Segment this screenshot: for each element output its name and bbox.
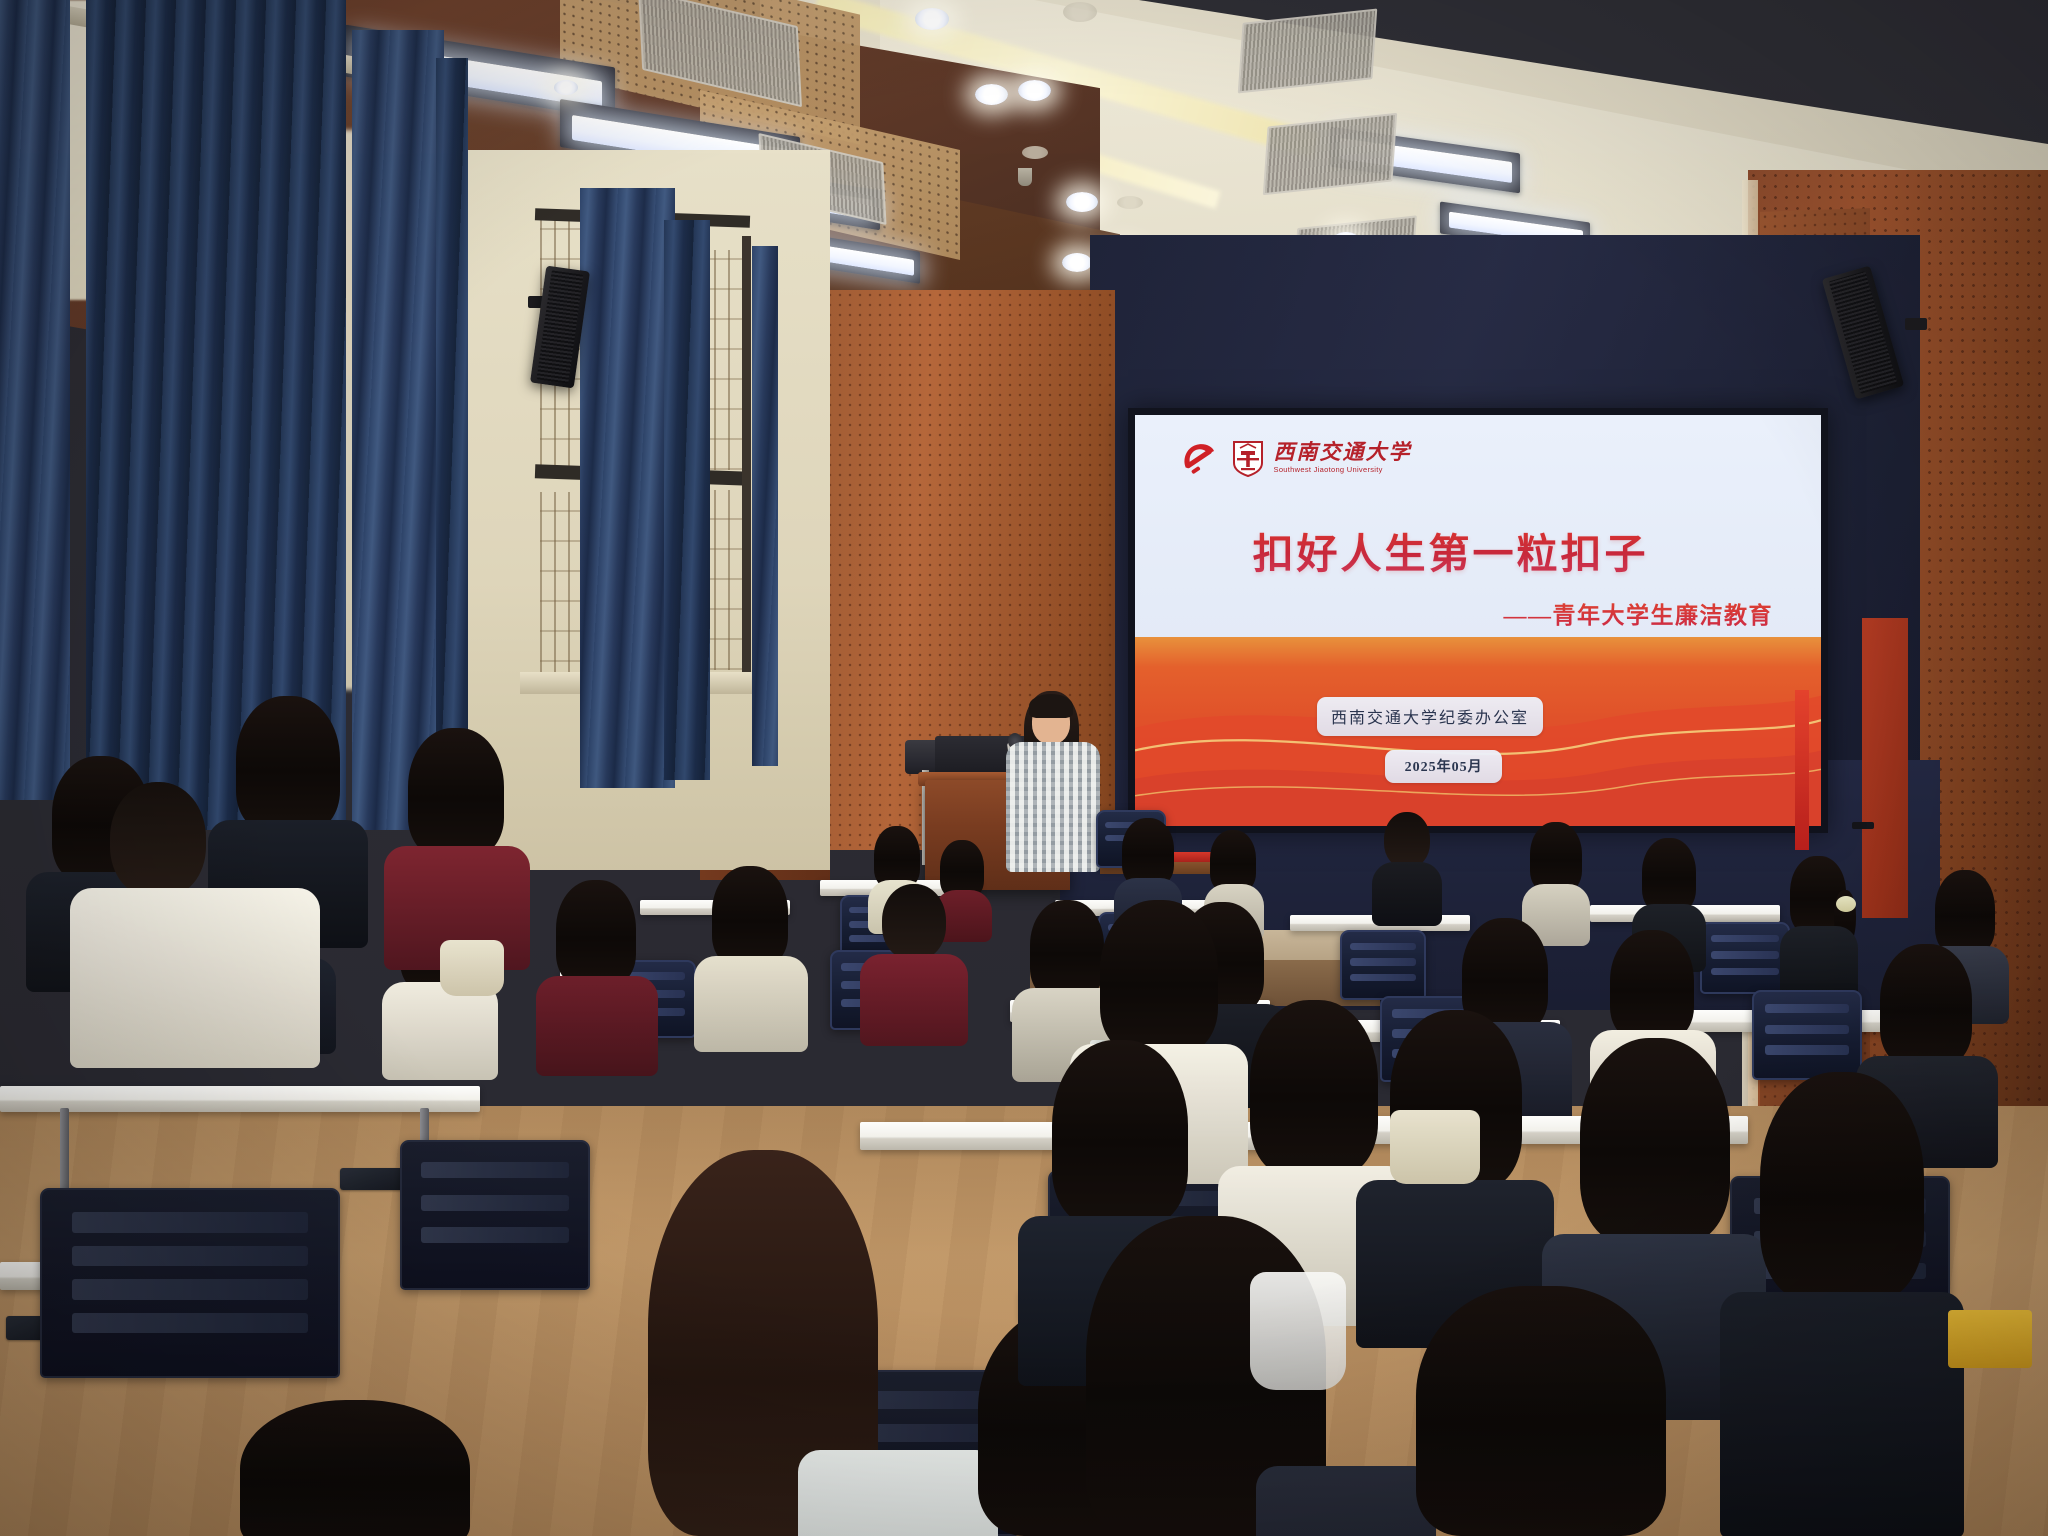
blue-curtain-panel: [0, 0, 70, 800]
navy-mesh-classroom-chair: [40, 1188, 340, 1378]
yellow-folder[interactable]: [1948, 1310, 2032, 1368]
recessed-downlight: [975, 84, 1008, 105]
white-classroom-desk: [0, 1086, 480, 1112]
navy-mesh-classroom-chair: [1752, 990, 1862, 1080]
slide-subtitle: ——青年大学生廉洁教育: [1503, 596, 1773, 630]
university-name-en: Southwest Jiaotong University: [1274, 466, 1412, 474]
red-banner-strip: [1795, 690, 1809, 850]
recessed-downlight: [1018, 80, 1051, 101]
recessed-downlight-off: [1063, 2, 1097, 22]
speaker-mount-arm: [1905, 318, 1927, 330]
recessed-downlight-off: [1022, 146, 1048, 159]
blue-curtain-panel: [436, 58, 468, 778]
blue-curtain-panel: [752, 246, 778, 766]
side-door[interactable]: [1862, 618, 1908, 918]
navy-mesh-classroom-chair: [1340, 930, 1426, 1000]
hvac-vent-grille: [1263, 113, 1397, 195]
cpc-hammer-sickle-emblem: [1178, 438, 1222, 478]
door-handle-icon: [1852, 822, 1874, 829]
slide-date-pill: 2025年05月: [1385, 750, 1502, 783]
navy-mesh-classroom-chair: [400, 1140, 590, 1290]
slide-organization-pill: 西南交通大学纪委办公室: [1317, 697, 1543, 736]
navy-mesh-classroom-chair: [1700, 922, 1790, 994]
blue-curtain-panel: [580, 188, 675, 788]
slide-logo-group: 西南交通大学 Southwest Jiaotong University: [1178, 438, 1412, 478]
tote-bag[interactable]: [440, 940, 504, 996]
projection-screen-frame: 西南交通大学 Southwest Jiaotong University 扣好人…: [1128, 408, 1828, 833]
hvac-vent-grille: [1238, 8, 1378, 93]
recessed-downlight: [1066, 192, 1098, 212]
university-shield-icon: [1232, 439, 1264, 477]
tote-bag[interactable]: [1390, 1110, 1480, 1184]
speaker-grill: [537, 270, 584, 383]
plastic-bag[interactable]: [1250, 1272, 1346, 1390]
recessed-downlight-off: [1117, 196, 1143, 209]
hair-scrunchie: [1836, 896, 1856, 912]
blue-curtain-panel: [352, 30, 444, 830]
blue-curtain-panel: [664, 220, 710, 780]
presentation-slide: 西南交通大学 Southwest Jiaotong University 扣好人…: [1135, 415, 1821, 826]
window-frame: [742, 236, 751, 676]
university-name-cn: 西南交通大学: [1274, 442, 1412, 463]
recessed-downlight: [915, 8, 949, 30]
fire-sprinkler-head: [1018, 168, 1032, 186]
recessed-downlight: [1062, 253, 1092, 272]
lecture-hall-photo: 西南交通大学 Southwest Jiaotong University 扣好人…: [0, 0, 2048, 1536]
recessed-downlight: [554, 80, 578, 95]
slide-title: 扣好人生第一粒扣子: [1135, 520, 1766, 580]
